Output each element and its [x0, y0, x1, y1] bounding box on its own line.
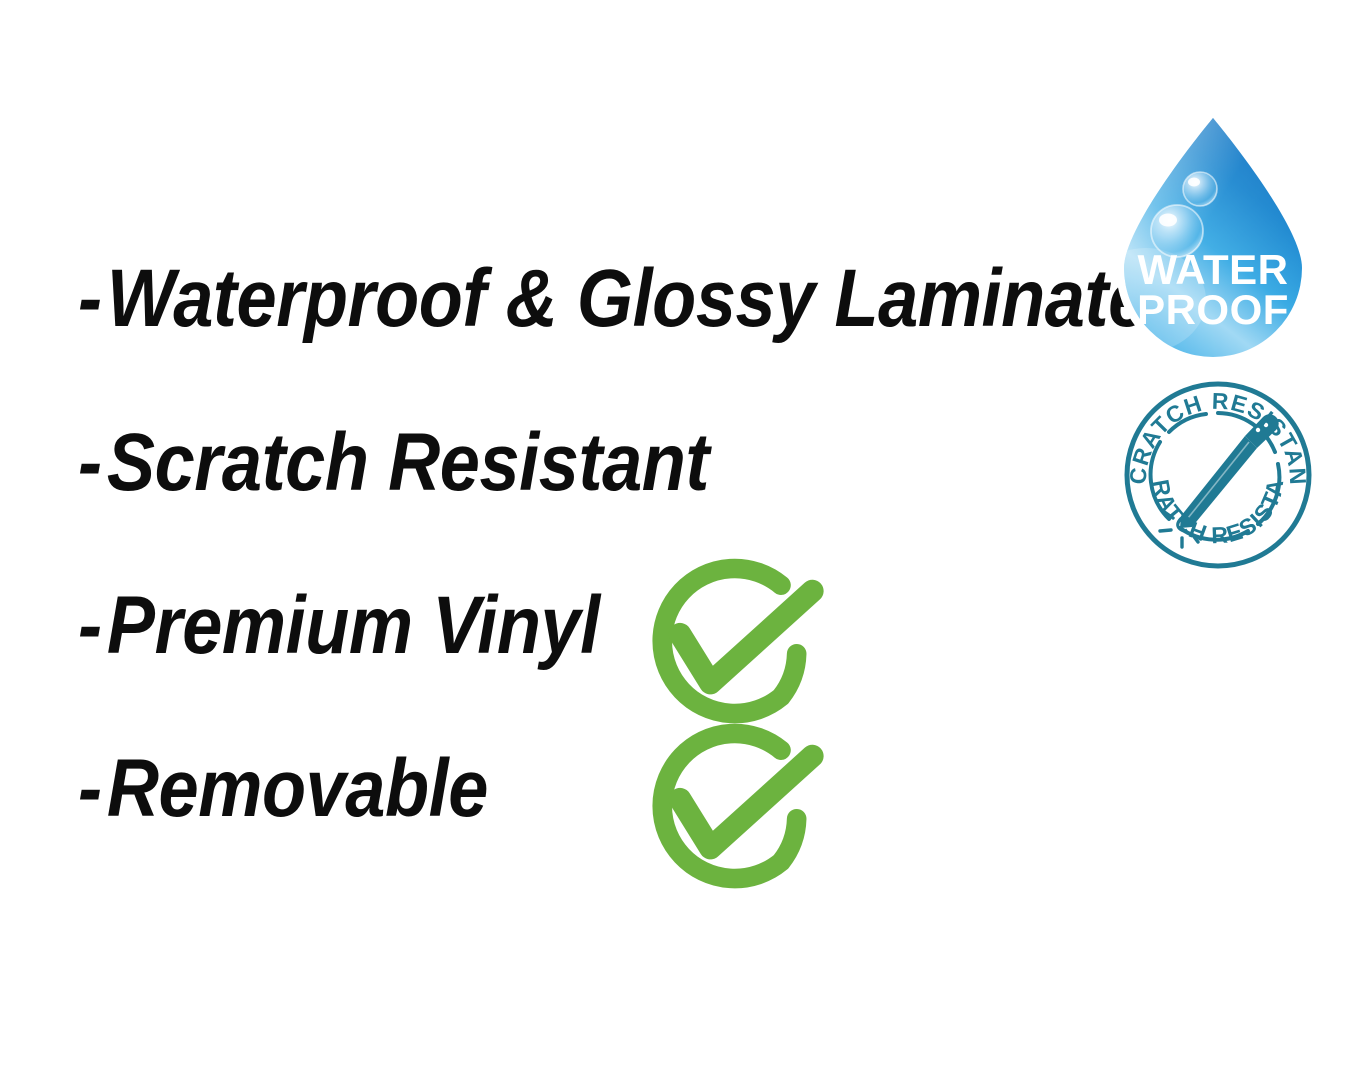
feature-item-removable: -Removable: [78, 748, 488, 830]
bubble-small: [1183, 172, 1217, 206]
bullet-dash: -: [78, 748, 107, 830]
feature-item-premium-vinyl: -Premium Vinyl: [78, 585, 600, 667]
feature-item-waterproof-glossy: -Waterproof & Glossy Laminated: [78, 258, 1191, 340]
feature-item-scratch-resistant: -Scratch Resistant: [78, 422, 709, 504]
bullet-dash: -: [78, 258, 107, 340]
feature-label: Removable: [107, 743, 488, 834]
stamp-text-top: SCRATCH RESISTANT: [1118, 378, 1311, 486]
feature-label: Scratch Resistant: [107, 417, 709, 508]
waterproof-line-2: PROOF: [1137, 286, 1289, 333]
feature-label: Waterproof & Glossy Laminated: [107, 253, 1192, 344]
scratch-resistant-badge: SCRATCH RESISTANT SCRATCH RESISTANT: [1118, 378, 1318, 572]
check-circle-icon: [634, 709, 830, 905]
waterproof-badge: WATER PROOF: [1104, 104, 1322, 366]
feature-graphic-canvas: -Waterproof & Glossy Laminated -Scratch …: [0, 0, 1359, 1080]
feature-label: Premium Vinyl: [107, 580, 600, 671]
bullet-dash: -: [78, 422, 107, 504]
bullet-dash: -: [78, 585, 107, 667]
